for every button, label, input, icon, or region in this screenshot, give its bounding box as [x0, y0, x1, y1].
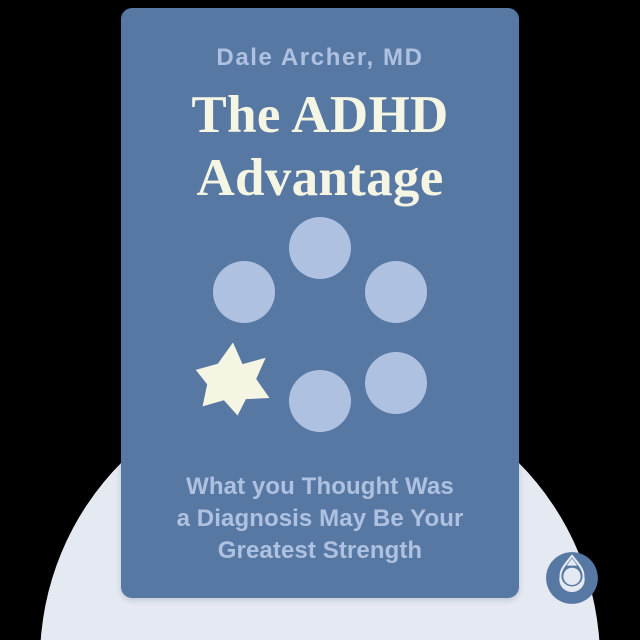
seven-pointed-star-icon [195, 341, 271, 417]
dot-top [289, 217, 351, 279]
dot-lower-right [365, 352, 427, 414]
book-cover-screenshot: Dale Archer, MD The ADHD Advantage What … [0, 0, 640, 640]
book-subtitle: What you Thought Was a Diagnosis May Be … [145, 471, 495, 567]
book-cover-card[interactable]: Dale Archer, MD The ADHD Advantage What … [121, 8, 519, 598]
blinkist-droplet-logo-icon[interactable] [545, 551, 599, 605]
book-author: Dale Archer, MD [121, 44, 519, 73]
book-title-line-1: The ADHD [143, 84, 497, 147]
book-subtitle-line-1: What you Thought Was [145, 471, 495, 503]
dot-upper-left [213, 261, 275, 323]
dot-upper-right [365, 261, 427, 323]
book-subtitle-line-2: a Diagnosis May Be Your [145, 503, 495, 535]
ring-of-dots-with-star-graphic [195, 217, 445, 432]
book-title-line-2: Advantage [143, 147, 497, 210]
book-subtitle-line-3: Greatest Strength [145, 535, 495, 567]
dot-bottom [289, 370, 351, 432]
book-title: The ADHD Advantage [143, 84, 497, 209]
